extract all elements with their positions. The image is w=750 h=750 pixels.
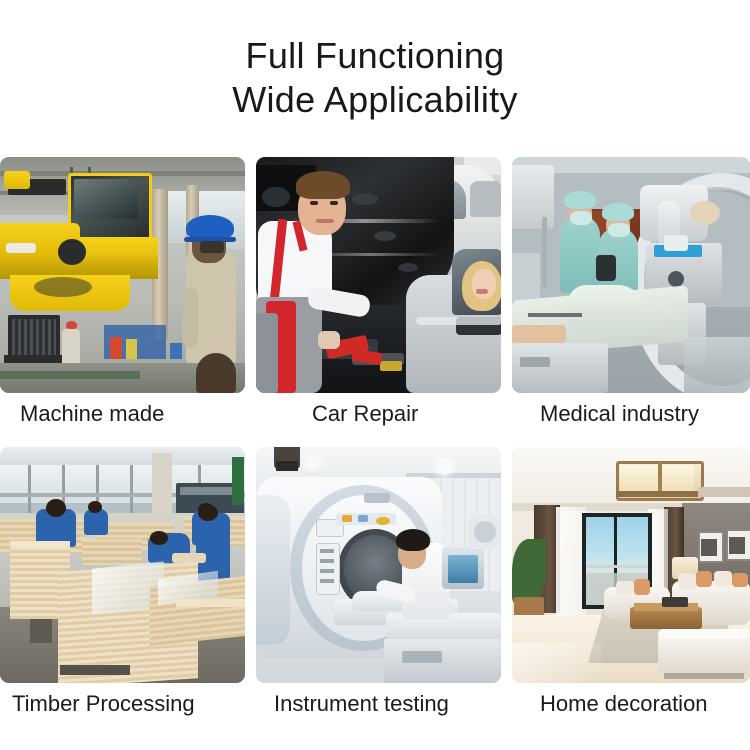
grid-item-machine-made[interactable]: Machine made (0, 157, 245, 393)
photo-factory-assembly (0, 157, 245, 393)
grid-item-medical-industry[interactable]: Medical industry (512, 157, 750, 393)
grid-row-1: Machine made (0, 157, 750, 447)
grid-item-instrument-testing[interactable]: Instrument testing (256, 447, 501, 683)
photo-home-living-room (512, 447, 750, 683)
photo-car-repair (256, 157, 501, 393)
grid-item-home-decoration[interactable]: Home decoration (512, 447, 750, 683)
caption-timber-processing: Timber Processing (12, 690, 195, 718)
page-title: Full Functioning Wide Applicability (0, 0, 750, 122)
promo-page: Full Functioning Wide Applicability (0, 0, 750, 750)
photo-mri-scanner (256, 447, 501, 683)
grid-row-2: Timber Processing (0, 447, 750, 737)
grid-item-car-repair[interactable]: Car Repair (256, 157, 501, 393)
photo-timber-factory (0, 447, 245, 683)
caption-machine-made: Machine made (20, 400, 164, 428)
photo-medical-operating-room (512, 157, 750, 393)
caption-car-repair: Car Repair (312, 400, 418, 428)
caption-home-decoration: Home decoration (540, 690, 708, 718)
caption-instrument-testing: Instrument testing (274, 690, 449, 718)
grid-item-timber-processing[interactable]: Timber Processing (0, 447, 245, 683)
application-grid: Machine made (0, 157, 750, 737)
caption-medical-industry: Medical industry (540, 400, 699, 428)
title-line-1: Full Functioning (0, 34, 750, 78)
title-line-2: Wide Applicability (0, 78, 750, 122)
